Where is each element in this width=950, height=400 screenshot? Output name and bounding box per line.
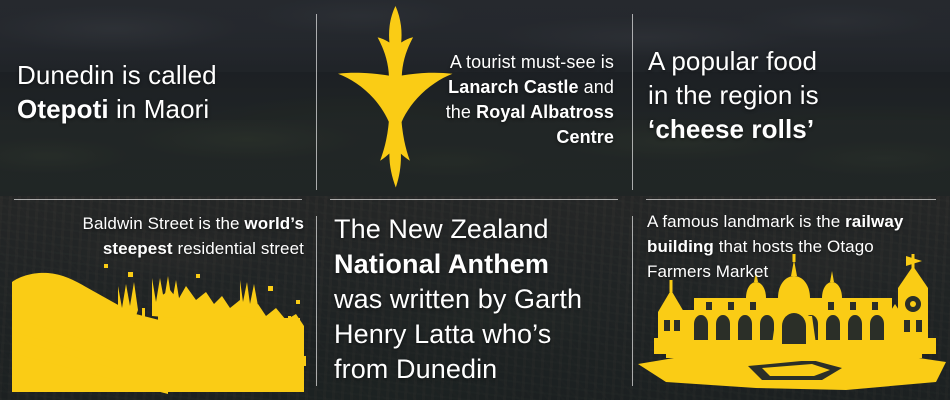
fact-text-baldwin-street: Baldwin Street is the world’s steepest r…: [8, 211, 304, 261]
fact-text-railway-building: A famous landmark is the railway buildin…: [647, 209, 939, 284]
fact-line: in the region is: [648, 80, 819, 110]
fact-emphasis: steepest: [103, 239, 173, 258]
fact-emphasis: Centre: [556, 127, 614, 147]
fact-emphasis: ‘cheese rolls’: [648, 114, 814, 144]
fact-line-tail: and: [579, 77, 614, 97]
fact-emphasis: National Anthem: [334, 249, 549, 279]
fact-cell-railway-building: A famous landmark is the railway buildin…: [634, 198, 950, 400]
fact-text-popular-food: A popular food in the region is ‘cheese …: [648, 44, 933, 146]
fact-emphasis: world’s: [244, 214, 304, 233]
fact-line: was written by Garth: [334, 284, 582, 314]
fact-cell-baldwin-street: Baldwin Street is the world’s steepest r…: [0, 198, 317, 400]
fact-cell-tourist-must-see: A tourist must-see is Lanarch Castle and…: [317, 0, 634, 198]
fact-cell-national-anthem: The New Zealand National Anthem was writ…: [317, 198, 634, 400]
fact-line: A popular food: [648, 46, 817, 76]
fact-line: Henry Latta who’s: [334, 319, 551, 349]
fact-cell-popular-food: A popular food in the region is ‘cheese …: [634, 0, 950, 198]
fact-text-national-anthem: The New Zealand National Anthem was writ…: [334, 212, 624, 387]
fact-line: A tourist must-see is: [450, 52, 614, 72]
fact-emphasis: railway: [845, 212, 903, 231]
fact-line: the: [446, 102, 476, 122]
fact-line: Farmers Market: [647, 262, 768, 281]
fact-line-tail: that hosts the Otago: [714, 237, 874, 256]
fact-grid: Dunedin is called Otepoti in Maori A tou…: [0, 0, 950, 400]
fact-line: from Dunedin: [334, 354, 497, 384]
fact-line-tail: in Maori: [109, 94, 210, 124]
fact-cell-maori-name: Dunedin is called Otepoti in Maori: [0, 0, 317, 198]
fact-emphasis: building: [647, 237, 714, 256]
fact-emphasis: Otepoti: [17, 94, 109, 124]
steep-street-illustration: [0, 256, 317, 396]
fact-text-maori-name: Dunedin is called Otepoti in Maori: [17, 58, 297, 126]
fact-line-tail: residential street: [173, 239, 304, 258]
fact-line: Dunedin is called: [17, 60, 217, 90]
fact-line: Baldwin Street is the: [83, 214, 245, 233]
dunedin-facts-infographic: Dunedin is called Otepoti in Maori A tou…: [0, 0, 950, 400]
fact-emphasis: Royal Albatross: [476, 102, 614, 122]
fact-emphasis: Lanarch Castle: [448, 77, 578, 97]
fact-text-tourist-must-see: A tourist must-see is Lanarch Castle and…: [419, 50, 614, 150]
fact-line: The New Zealand: [334, 214, 549, 244]
fact-line: A famous landmark is the: [647, 212, 845, 231]
